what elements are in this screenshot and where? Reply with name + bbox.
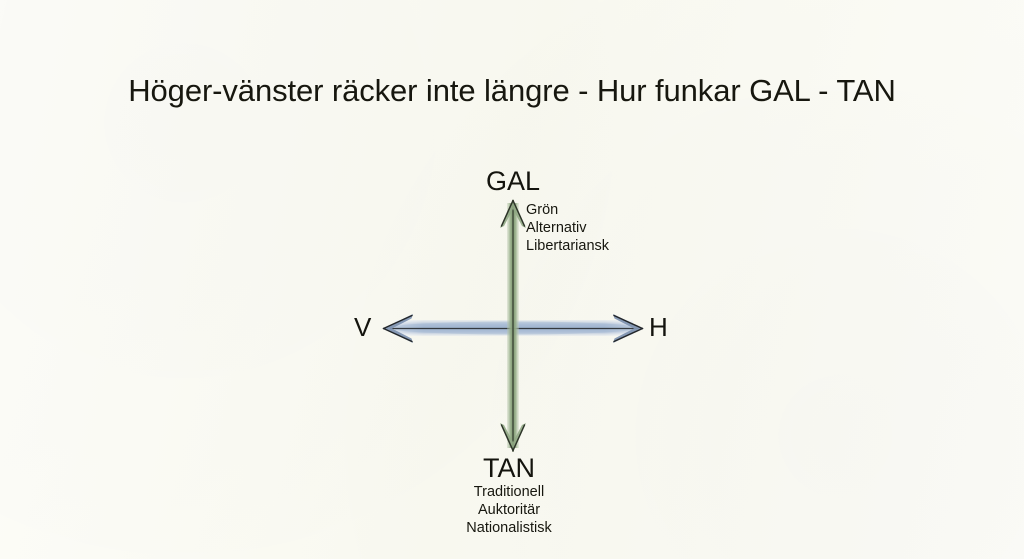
descriptor-gal-2: Alternativ xyxy=(526,219,609,237)
axis-label-vanster: V xyxy=(354,313,371,341)
descriptor-gal-3: Libertariansk xyxy=(526,237,609,255)
axis-label-hoger: H xyxy=(649,313,668,341)
descriptor-tan-1: Traditionell xyxy=(0,483,1021,501)
slide-canvas: Höger-vänster räcker inte längre - Hur f… xyxy=(0,0,1024,559)
descriptors-gal: Grön Alternativ Libertariansk xyxy=(526,201,609,255)
descriptors-tan: Traditionell Auktoritär Nationalistisk xyxy=(0,483,1021,537)
descriptor-tan-2: Auktoritär xyxy=(0,501,1021,519)
descriptor-tan-3: Nationalistisk xyxy=(0,519,1021,537)
descriptor-gal-1: Grön xyxy=(526,201,609,219)
axis-label-tan: TAN xyxy=(0,453,1021,483)
gal-tan-diagram: GAL Grön Alternativ Libertariansk TAN Tr… xyxy=(0,0,1024,559)
axis-label-gal: GAL xyxy=(1,166,1024,196)
